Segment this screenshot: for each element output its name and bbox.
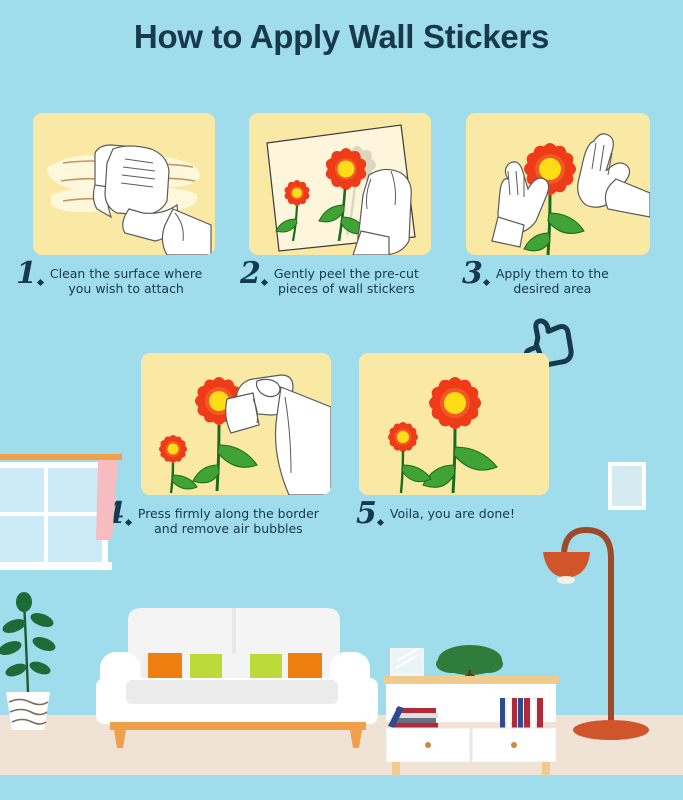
green-pillow (250, 654, 282, 680)
right-hand-illustration (578, 134, 650, 217)
step-dot-3 (483, 279, 490, 286)
lamp-base (573, 720, 649, 740)
curtain-rod (0, 454, 122, 460)
sideboard-top (383, 676, 559, 684)
room-illustration (0, 430, 683, 800)
step-dot-1 (37, 279, 44, 286)
potted-plant (0, 592, 57, 730)
page-title: How to Apply Wall Stickers (0, 18, 683, 56)
orange-pillow (288, 653, 322, 681)
curtain (96, 460, 118, 540)
white-sofa (96, 608, 378, 748)
step-number-1: 1 (16, 259, 37, 289)
wall-frame (608, 462, 646, 510)
lamp-shade (543, 552, 590, 578)
step-number-2: 2 (240, 259, 261, 289)
step-caption-3: 3 Apply them to the desired area (462, 262, 657, 296)
step-number-3: 3 (462, 259, 483, 289)
step-caption-1: 1 Clean the surface where you wish to at… (16, 262, 221, 296)
window-with-pink-curtain (0, 454, 122, 570)
step-caption-2: 2 Gently peel the pre-cut pieces of wall… (240, 262, 445, 296)
step-text-1: Clean the surface where you wish to atta… (50, 262, 203, 296)
bottom-strip (0, 775, 683, 800)
infographic-canvas: How to Apply Wall Stickers (0, 0, 683, 800)
floor-lamp (543, 530, 649, 740)
step-dot-2 (261, 279, 268, 286)
step-text-2: Gently peel the pre-cut pieces of wall s… (274, 262, 419, 296)
sofa-base (110, 722, 366, 730)
green-pillow (190, 654, 222, 680)
step-card-2 (249, 113, 431, 255)
orange-pillow (148, 653, 182, 681)
step-text-3: Apply them to the desired area (496, 262, 609, 296)
step-card-1 (33, 113, 215, 255)
step-card-3 (466, 113, 650, 255)
